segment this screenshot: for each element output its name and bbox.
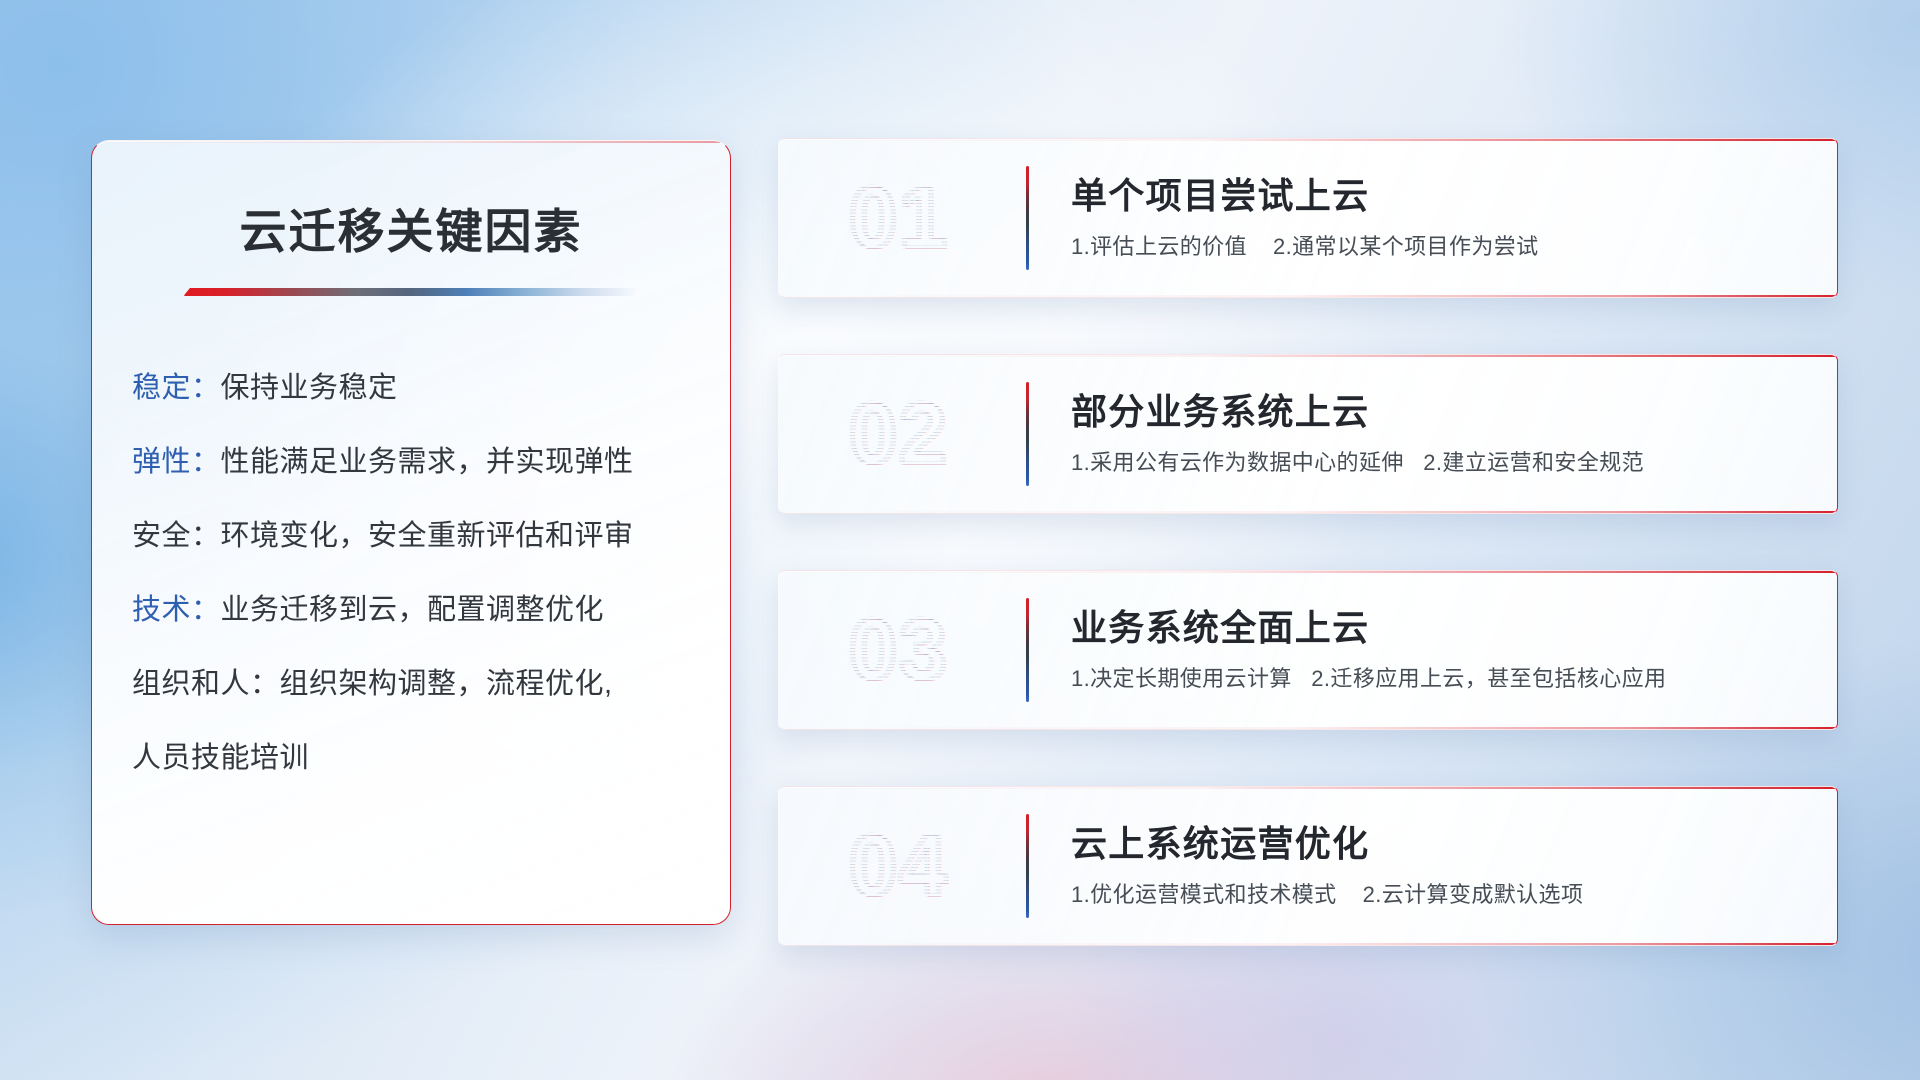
step-divider-line: [1026, 166, 1029, 270]
step-description: 1.采用公有云作为数据中心的延伸 2.建立运营和安全规范: [1071, 451, 1644, 477]
migration-steps-list: 01 单个项目尝试上云 1.评估上云的价值 2.通常以某个项目作为尝试 02 部…: [778, 138, 1838, 946]
page-title: 云迁移关键因素: [92, 193, 730, 262]
list-item: 安全：环境变化，安全重新评估和评审: [132, 522, 730, 551]
step-number-text: 03: [849, 601, 949, 700]
list-item: 组织和人：组织架构调整，流程优化,: [132, 670, 730, 699]
step-divider-line: [1026, 598, 1029, 702]
step-card-02[interactable]: 02 部分业务系统上云 1.采用公有云作为数据中心的延伸 2.建立运营和安全规范: [778, 354, 1838, 514]
step-number-text: 01: [849, 169, 949, 268]
step-text-block: 业务系统全面上云 1.决定长期使用云计算 2.迁移应用上云，甚至包括核心应用: [1071, 607, 1666, 693]
step-text-block: 部分业务系统上云 1.采用公有云作为数据中心的延伸 2.建立运营和安全规范: [1071, 391, 1644, 477]
step-divider-line: [1026, 382, 1029, 486]
list-item: 人员技能培训: [132, 744, 730, 773]
factor-value: 组织架构调整，流程优化,: [280, 668, 613, 700]
factor-value: 业务迁移到云，配置调整优化: [221, 594, 605, 626]
factor-value: 保持业务稳定: [221, 372, 398, 404]
factor-value: 性能满足业务需求，并实现弹性: [221, 446, 634, 478]
factor-value: 环境变化，安全重新评估和评审: [221, 520, 634, 552]
step-card-01[interactable]: 01 单个项目尝试上云 1.评估上云的价值 2.通常以某个项目作为尝试: [778, 138, 1838, 298]
step-number-watermark: 02: [819, 380, 979, 488]
step-number-text: 02: [849, 385, 949, 484]
step-title: 部分业务系统上云: [1071, 391, 1644, 432]
factor-key: 组织和人：: [132, 668, 280, 700]
key-factors-panel: 云迁移关键因素 稳定：保持业务稳定 弹性：性能满足业务需求，并实现弹性 安全：环…: [91, 140, 731, 925]
step-title: 云上系统运营优化: [1071, 823, 1583, 864]
factor-key: 安全：: [132, 520, 221, 552]
step-number-watermark: 04: [819, 812, 979, 920]
step-number-watermark: 01: [819, 164, 979, 272]
step-title: 单个项目尝试上云: [1071, 175, 1539, 216]
step-text-block: 云上系统运营优化 1.优化运营模式和技术模式 2.云计算变成默认选项: [1071, 823, 1583, 909]
list-item: 技术：业务迁移到云，配置调整优化: [132, 596, 730, 625]
step-description: 1.评估上云的价值 2.通常以某个项目作为尝试: [1071, 235, 1539, 261]
factor-key: 技术：: [132, 594, 221, 626]
factor-list: 稳定：保持业务稳定 弹性：性能满足业务需求，并实现弹性 安全：环境变化，安全重新…: [92, 374, 730, 773]
factor-value: 人员技能培训: [132, 742, 309, 774]
title-underline-accent: [184, 288, 639, 296]
step-description: 1.决定长期使用云计算 2.迁移应用上云，甚至包括核心应用: [1071, 667, 1666, 693]
step-card-04[interactable]: 04 云上系统运营优化 1.优化运营模式和技术模式 2.云计算变成默认选项: [778, 786, 1838, 946]
step-title: 业务系统全面上云: [1071, 607, 1666, 648]
step-description: 1.优化运营模式和技术模式 2.云计算变成默认选项: [1071, 883, 1583, 909]
factor-key: 稳定：: [132, 372, 221, 404]
step-card-03[interactable]: 03 业务系统全面上云 1.决定长期使用云计算 2.迁移应用上云，甚至包括核心应…: [778, 570, 1838, 730]
step-divider-line: [1026, 814, 1029, 918]
step-number-watermark: 03: [819, 596, 979, 704]
list-item: 稳定：保持业务稳定: [132, 374, 730, 403]
factor-key: 弹性：: [132, 446, 221, 478]
list-item: 弹性：性能满足业务需求，并实现弹性: [132, 448, 730, 477]
step-text-block: 单个项目尝试上云 1.评估上云的价值 2.通常以某个项目作为尝试: [1071, 175, 1539, 261]
step-number-text: 04: [849, 817, 949, 916]
